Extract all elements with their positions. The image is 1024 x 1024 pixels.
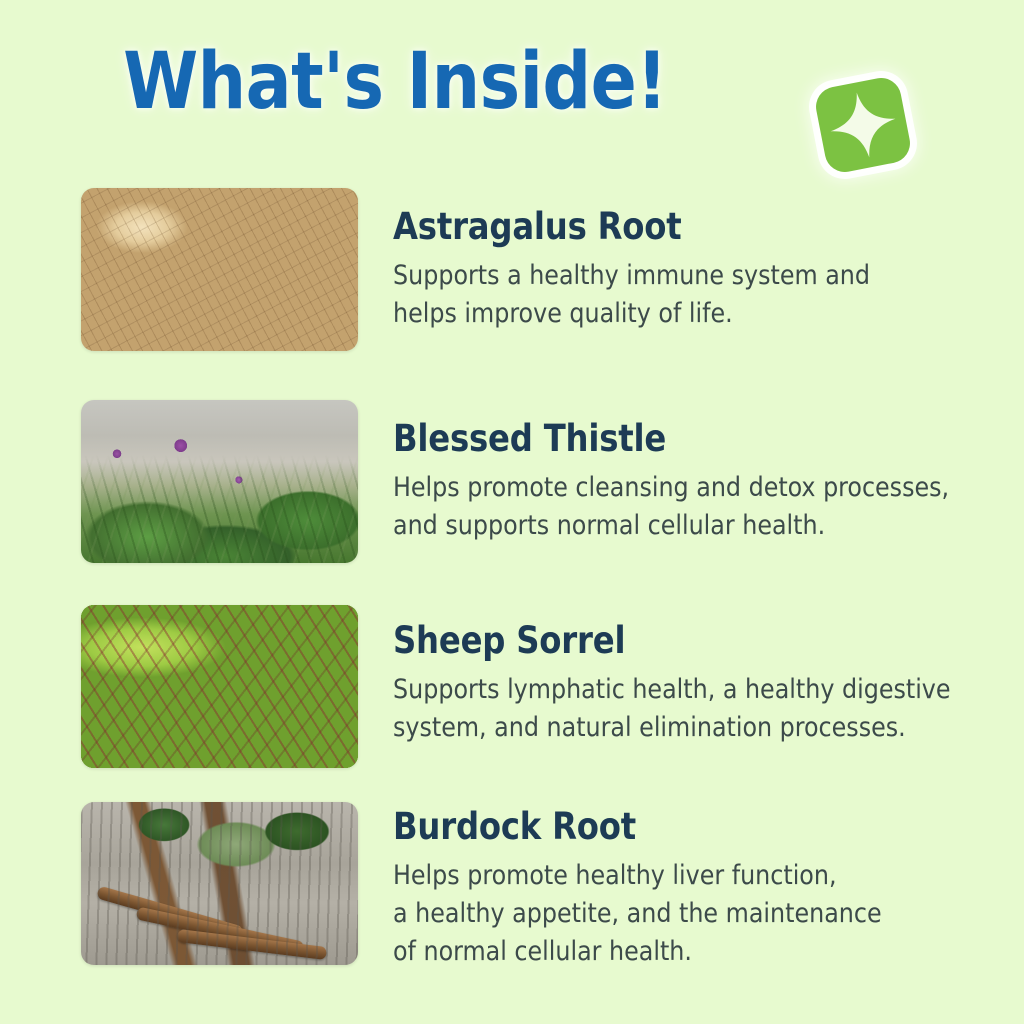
description-line: Supports a healthy immune system and (393, 257, 961, 295)
ingredient-name: Blessed Thistle (393, 418, 956, 460)
ingredient-description: Supports a healthy immune system and hel… (393, 257, 961, 333)
ingredient-image-blessed-thistle (81, 400, 358, 563)
ingredient-name: Sheep Sorrel (393, 620, 956, 662)
description-line: a healthy appetite, and the maintenance (393, 895, 961, 933)
ingredient-text: Burdock Root Helps promote healthy liver… (393, 806, 973, 971)
ingredient-image-sheep-sorrel (81, 605, 358, 768)
header: What's Inside! (0, 34, 1024, 154)
description-line: and supports normal cellular health. (393, 507, 961, 545)
ingredient-image-burdock-root (81, 802, 358, 965)
ingredient-name: Astragalus Root (393, 206, 956, 248)
infographic-canvas: What's Inside! Astragalus Root Supports … (0, 0, 1024, 1024)
sparkle-badge (812, 74, 916, 178)
ingredient-name: Burdock Root (393, 806, 956, 848)
sheep-sorrel-leaves-photo (81, 605, 358, 768)
description-line: Supports lymphatic health, a healthy dig… (393, 671, 961, 709)
ingredient-image-astragalus-root (81, 188, 358, 351)
description-line: Helps promote cleansing and detox proces… (393, 469, 961, 507)
ingredient-description: Supports lymphatic health, a healthy dig… (393, 671, 961, 747)
description-line: Helps promote healthy liver function, (393, 857, 961, 895)
ingredient-text: Sheep Sorrel Supports lymphatic health, … (393, 620, 973, 747)
ingredient-description: Helps promote cleansing and detox proces… (393, 469, 961, 545)
sparkle-star-icon (813, 75, 914, 176)
description-line: of normal cellular health. (393, 933, 961, 971)
ingredient-text: Blessed Thistle Helps promote cleansing … (393, 418, 973, 545)
ingredient-description: Helps promote healthy liver function, a … (393, 857, 961, 971)
description-line: helps improve quality of life. (393, 295, 961, 333)
astragalus-root-slices-photo (81, 188, 358, 351)
ingredient-text: Astragalus Root Supports a healthy immun… (393, 206, 973, 333)
description-line: system, and natural elimination processe… (393, 709, 961, 747)
burdock-root-photo (81, 802, 358, 965)
blessed-thistle-plant-photo (81, 400, 358, 563)
badge-square (813, 75, 914, 176)
page-title: What's Inside! (12, 34, 778, 130)
